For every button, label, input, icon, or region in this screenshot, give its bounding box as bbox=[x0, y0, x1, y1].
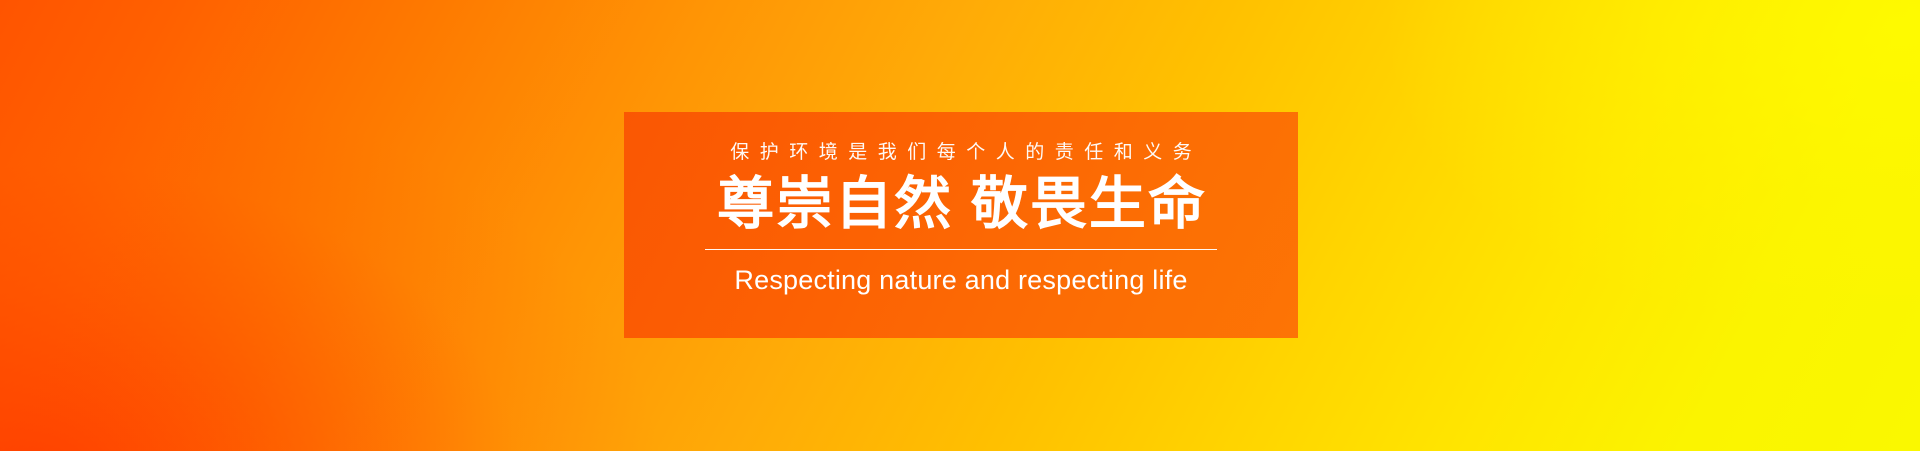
headline-slogan: 尊崇自然 敬畏生命 bbox=[715, 171, 1207, 237]
slogan-card: 保护环境是我们每个人的责任和义务 尊崇自然 敬畏生命 Respecting na… bbox=[624, 112, 1298, 338]
divider-rule bbox=[705, 249, 1217, 250]
english-subtitle: Respecting nature and respecting life bbox=[734, 264, 1187, 296]
eyebrow-tagline: 保护环境是我们每个人的责任和义务 bbox=[720, 142, 1203, 164]
environmental-slogan-banner: 保护环境是我们每个人的责任和义务 尊崇自然 敬畏生命 Respecting na… bbox=[0, 0, 1920, 451]
